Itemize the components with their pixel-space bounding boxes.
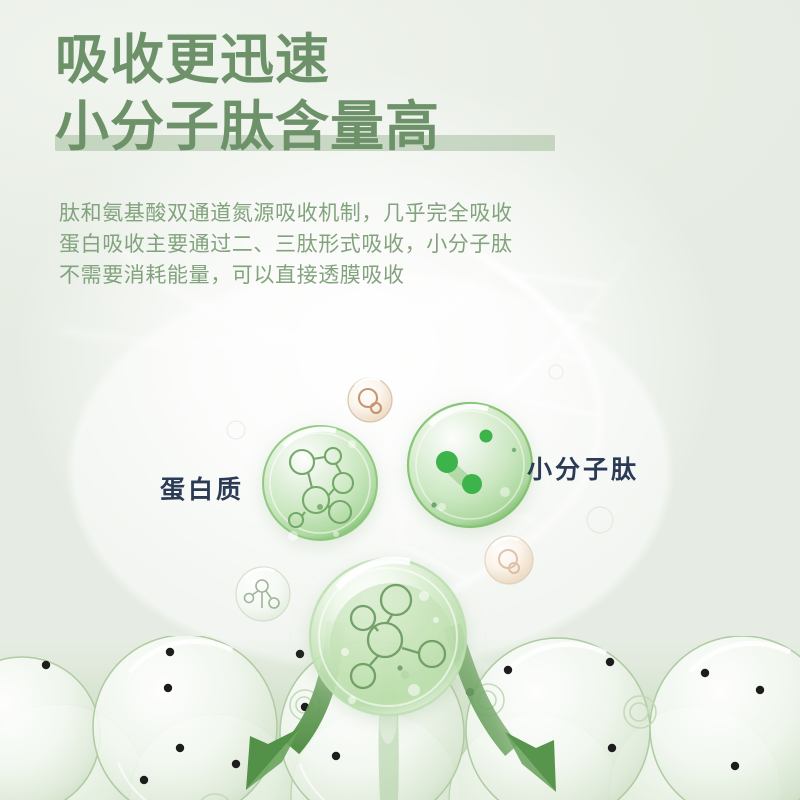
promo-banner: 吸收更迅速 小分子肽含量高 肽和氨基酸双通道氮源吸收机制，几乎完全吸收 蛋白吸收… [0,0,800,800]
amber-bubble-top [348,378,392,422]
droplet-sphere [310,559,466,715]
label-peptide: 小分子肽 [527,450,639,486]
amber-bubble-right [485,536,533,584]
protein-sphere [263,426,377,541]
peptide-sphere [408,403,532,527]
molecule-spheres [0,0,800,800]
small-molecule-bubble [236,567,290,621]
label-protein: 蛋白质 [160,470,244,506]
